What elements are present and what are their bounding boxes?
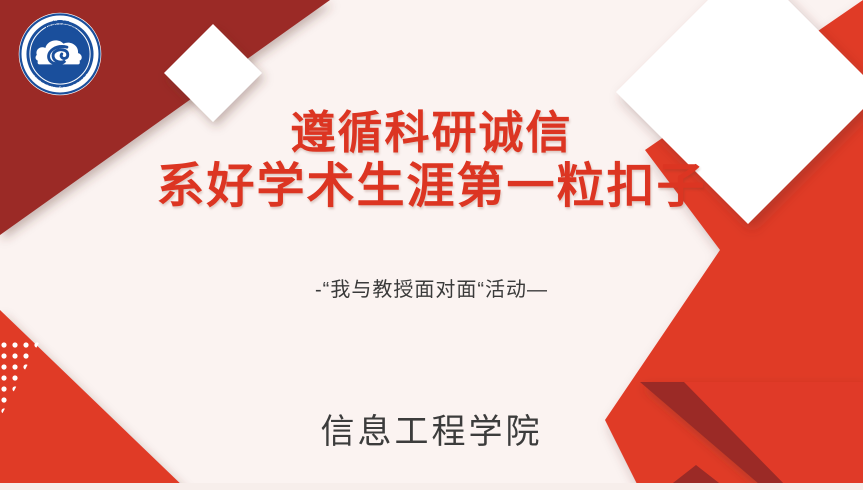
title-block: 遵循科研诚信 系好学术生涯第一粒扣子	[0, 108, 863, 214]
title-line-2: 系好学术生涯第一粒扣子	[0, 160, 863, 214]
subtitle: -“我与教授面对面“活动—	[0, 273, 863, 302]
bottom-strip	[0, 483, 863, 490]
svg-text:O: O	[62, 86, 66, 91]
school-emblem-icon: 信 息 工 程 学 院 S C H O O L O F I N F O	[17, 11, 103, 97]
school-logo: 信 息 工 程 学 院 S C H O O L O F I N F O	[17, 11, 103, 97]
organization-name: 信息工程学院	[0, 404, 863, 453]
shape-bottom-right-small-triangle	[664, 465, 728, 490]
presentation-slide: 信 息 工 程 学 院 S C H O O L O F I N F O	[0, 0, 863, 490]
title-line-1: 遵循科研诚信	[0, 108, 863, 158]
shape-bottom-left-triangle	[0, 310, 187, 490]
